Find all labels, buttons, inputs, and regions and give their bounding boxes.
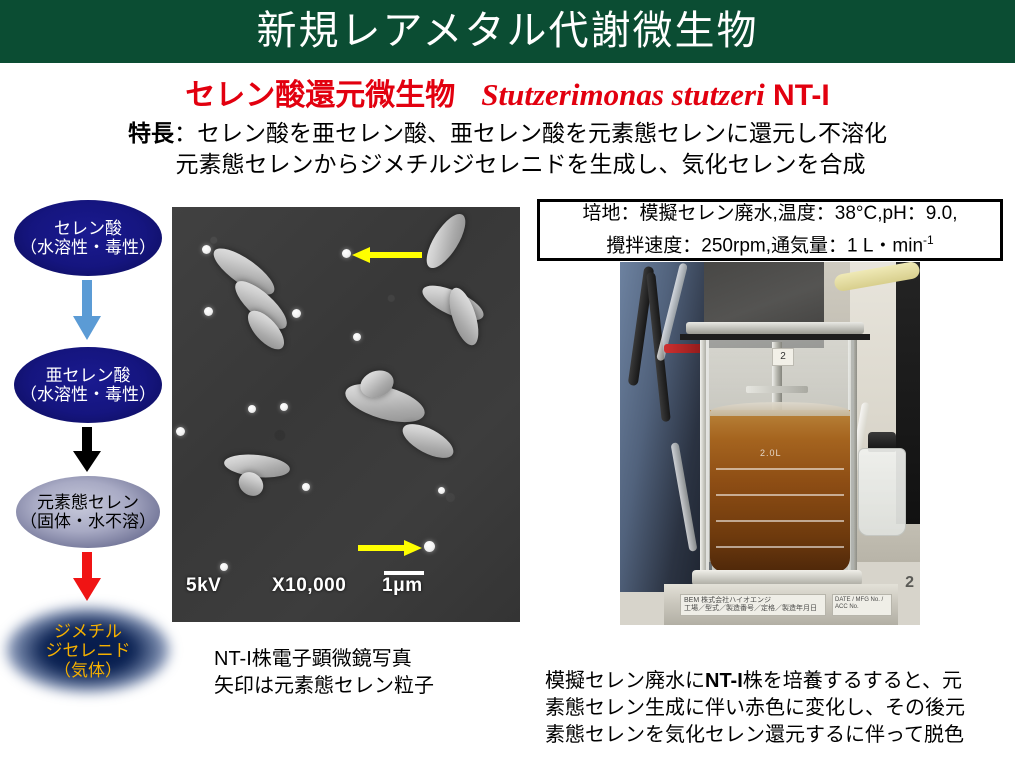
- reactor-caption-strain: NT-I: [705, 670, 743, 692]
- flow-node-dmdse-line1: ジメチル: [54, 622, 122, 641]
- flow-node-selenate-line2: （水溶性・毒性）: [20, 238, 156, 257]
- flow-node-dimethyl-diselenide: ジメチル ジセレニド （気体）: [12, 605, 164, 697]
- left-arrow-icon: [352, 247, 422, 263]
- selenium-nanoparticle: [204, 307, 213, 316]
- volume-mark-label: 2.0L: [760, 448, 782, 458]
- flow-node-selenite-line1: 亜セレン酸: [46, 366, 131, 385]
- subtitle-prefix: セレン酸還元微生物: [185, 79, 455, 112]
- selenium-nanoparticle: [424, 541, 435, 552]
- sem-scale-label: 1μm: [382, 575, 423, 597]
- flow-node-selenite-line2: （水溶性・毒性）: [20, 385, 156, 404]
- flow-node-dmdse-line2: ジセレニド: [46, 641, 131, 660]
- selenium-nanoparticle: [353, 333, 361, 341]
- features-line-1: 特長：セレン酸を亜セレン酸、亜セレン酸を元素態セレンに還元し不溶化: [0, 118, 1015, 149]
- reactor-caption: 模擬セレン廃水にNT-I株を培養するすると、元 素態セレン生成に伴い赤色に変化し…: [545, 668, 965, 749]
- flow-node-elemental-selenium-line1: 元素態セレン: [37, 493, 139, 512]
- sem-caption-line-2: 矢印は元素態セレン粒子: [214, 673, 434, 700]
- unit-number-label: 2: [905, 574, 914, 592]
- red-clamp: [664, 344, 704, 353]
- reactor-caption-line-1-c: 株を培養するすると、元: [743, 670, 962, 692]
- arrow-selenite-to-selenium: [71, 427, 103, 473]
- impeller-blade: [746, 386, 808, 393]
- features-block: 特長：セレン酸を亜セレン酸、亜セレン酸を元素態セレンに還元し不溶化 元素態セレン…: [0, 118, 1015, 180]
- selenium-nanoparticle: [202, 245, 211, 254]
- volume-graduation: [716, 520, 844, 522]
- sem-micrograph: 5kV X10,000 1μm: [172, 207, 520, 622]
- selenium-nanoparticle: [292, 309, 301, 318]
- equipment-nameplate: BEM 株式会社ハイオエンジ 工場／型式／製造番号／定格／製造年月日: [680, 594, 826, 616]
- culture-conditions-line-2-text: 攪拌速度：250rpm,通気量：1 L・min: [606, 235, 923, 256]
- lab-wall-left: [620, 262, 712, 592]
- equipment-nameplate-line-1: BEM 株式会社ハイオエンジ: [684, 597, 822, 605]
- sem-magnification: X10,000: [272, 575, 346, 597]
- down-arrow-icon: [71, 280, 103, 342]
- culture-conditions-line-1: 培地：模擬セレン廃水,温度：38°C,pH：9.0,: [583, 201, 958, 227]
- vessel-tag: 2: [772, 348, 794, 366]
- selenium-nanoparticle: [342, 249, 351, 258]
- arrow-selenium-to-dmdse: [71, 552, 103, 602]
- features-line-2: 元素態セレンからジメチルジセレニドを生成し、気化セレンを合成: [0, 149, 1015, 180]
- flow-node-dmdse-line3: （気体）: [54, 661, 122, 680]
- sem-accel-voltage: 5kV: [186, 575, 221, 597]
- flow-node-elemental-selenium: 元素態セレン （固体・水不溶）: [16, 476, 160, 548]
- flow-node-elemental-selenium-line2: （固体・水不溶）: [20, 512, 156, 531]
- down-arrow-icon: [71, 427, 103, 473]
- sem-caption: NT-I株電子顕微鏡写真 矢印は元素態セレン粒子: [214, 646, 434, 700]
- reactor-caption-line-2: 素態セレン生成に伴い赤色に変化し、その後元: [545, 695, 965, 722]
- sem-pointer-arrow-top: [352, 247, 422, 268]
- reactor-caption-line-1-a: 模擬セレン廃水に: [545, 670, 705, 692]
- selenium-nanoparticle: [438, 487, 445, 494]
- equipment-nameplate-right: DATE / MFG No. / ACC No.: [832, 594, 892, 616]
- volume-graduation: [716, 494, 844, 496]
- reagent-bottle: [858, 448, 906, 536]
- subtitle-species: Stutzerimonas stutzeri: [481, 77, 764, 112]
- selenium-nanoparticle: [248, 405, 256, 413]
- reactor-caption-line-3: 素態セレンを気化セレン還元するに伴って脱色: [545, 722, 965, 749]
- selenium-nanoparticle: [176, 427, 185, 436]
- equipment-nameplate-line-2: 工場／型式／製造番号／定格／製造年月日: [684, 605, 822, 613]
- metabolic-flow-diagram: セレン酸 （水溶性・毒性） 亜セレン酸 （水溶性・毒性） 元素態セレン （固体・…: [0, 195, 175, 675]
- features-lead: 特長: [128, 120, 174, 146]
- selenium-nanoparticle: [280, 403, 288, 411]
- page-title: 新規レアメタル代謝微生物: [0, 1, 1015, 61]
- culture-conditions-exponent: -1: [923, 233, 934, 247]
- culture-conditions-box: 培地：模擬セレン廃水,温度：38°C,pH：9.0, 攪拌速度：250rpm,通…: [537, 199, 1003, 261]
- flow-node-selenite: 亜セレン酸 （水溶性・毒性）: [14, 347, 162, 423]
- subtitle: セレン酸還元微生物Stutzerimonas stutzeri NT-I: [0, 70, 1015, 114]
- down-arrow-icon: [71, 552, 103, 602]
- volume-graduation: [716, 468, 844, 470]
- bioreactor-photo: 2 2.0L BEM 株式会社ハイオエンジ 工場／型式／製造番号／定格／製造年月…: [620, 262, 920, 625]
- head-plate: [686, 322, 864, 334]
- features-line-1-text: ：セレン酸を亜セレン酸、亜セレン酸を元素態セレンに還元し不溶化: [174, 120, 887, 146]
- arrow-selenate-to-selenite: [71, 280, 103, 342]
- flow-node-selenate-line1: セレン酸: [54, 219, 122, 238]
- flow-node-selenate: セレン酸 （水溶性・毒性）: [14, 200, 162, 276]
- reactor-caption-line-1: 模擬セレン廃水にNT-I株を培養するすると、元: [545, 668, 965, 695]
- volume-graduation: [716, 546, 844, 548]
- subtitle-strain: NT-I: [773, 79, 830, 112]
- selenium-nanoparticle: [220, 563, 228, 571]
- broth-foam-layer: [710, 402, 850, 416]
- sem-caption-line-1: NT-I株電子顕微鏡写真: [214, 646, 434, 673]
- slide-root: 新規レアメタル代謝微生物 セレン酸還元微生物Stutzerimonas stut…: [0, 0, 1015, 761]
- right-arrow-icon: [358, 540, 422, 556]
- sem-pointer-arrow-bottom: [358, 540, 422, 561]
- culture-conditions-line-2: 攪拌速度：250rpm,通気量：1 L・min-1: [606, 227, 933, 259]
- selenium-nanoparticle: [302, 483, 310, 491]
